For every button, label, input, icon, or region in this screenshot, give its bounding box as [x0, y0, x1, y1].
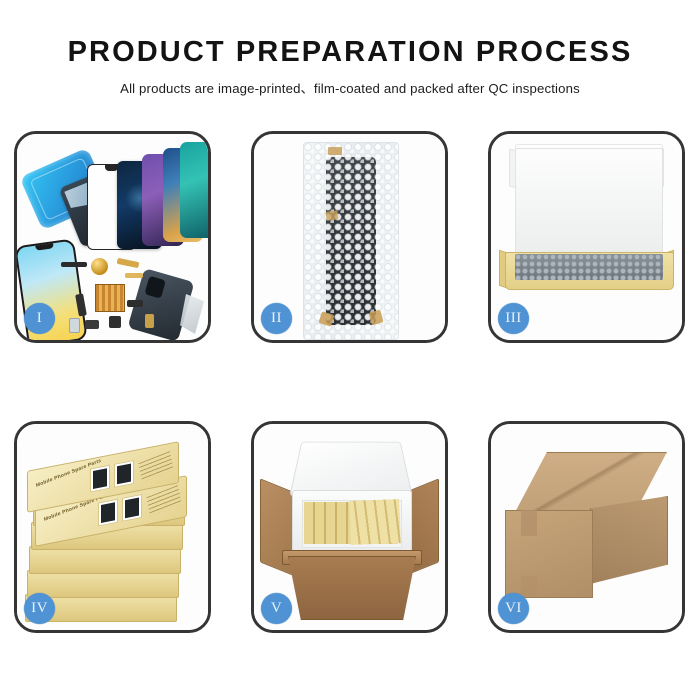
- tape-icon: [521, 510, 537, 536]
- box-window-icon: [98, 499, 118, 527]
- battery-icon: [69, 318, 80, 333]
- step-panel-sealed-carton: VI: [488, 421, 685, 633]
- step-badge: V: [261, 593, 292, 624]
- phone-teal-icon: [180, 142, 211, 238]
- carton-front-face: [505, 510, 593, 598]
- bubble-wrap-texture: [304, 143, 398, 339]
- header: PRODUCT PREPARATION PROCESS All products…: [0, 0, 700, 95]
- page-title: PRODUCT PREPARATION PROCESS: [0, 38, 700, 67]
- bubble-wrapped-item-icon: [515, 254, 663, 280]
- step-badge: I: [24, 303, 55, 334]
- carton-body: [288, 556, 416, 620]
- box-window-icon: [90, 465, 110, 493]
- step-panel-bubble-wrapped-screen: II: [251, 131, 448, 343]
- box-spec-lines: [138, 451, 173, 482]
- box-spec-lines: [146, 485, 181, 516]
- tape-icon: [328, 147, 342, 155]
- process-step-grid: I II: [14, 131, 686, 633]
- step-panel-foam-box-in-carton: V: [251, 421, 448, 633]
- flex-cable-icon: [61, 262, 87, 267]
- bubble-bag: [303, 142, 399, 340]
- box-window-icon: [122, 494, 142, 522]
- component-icon: [127, 300, 143, 307]
- kraft-box-layer: [27, 570, 179, 598]
- gold-coil-icon: [91, 258, 108, 275]
- box-lid: [515, 148, 663, 254]
- kraft-box-layer: [29, 546, 181, 574]
- flex-cable-icon: [117, 258, 140, 268]
- box-window-icon: [114, 460, 134, 488]
- foam-lid-icon: [289, 442, 413, 497]
- step-badge: VI: [498, 593, 529, 624]
- step-panel-open-mailer-box: III: [488, 131, 685, 343]
- component-icon: [145, 314, 154, 328]
- step-panel-stacked-kraft-boxes: Mobile Phone Spare Parts Mobile Phone Sp…: [14, 421, 211, 633]
- component-icon: [109, 316, 121, 328]
- tape-icon: [521, 576, 537, 596]
- kraft-boxes-inside: [349, 499, 401, 545]
- step-panel-parts-overview: I: [14, 131, 211, 343]
- step-badge: III: [498, 303, 529, 334]
- box-stack: Mobile Phone Spare Parts Mobile Phone Sp…: [23, 444, 203, 620]
- chip-grid-icon: [95, 284, 125, 312]
- carton-side-face: [590, 496, 668, 584]
- step-badge: IV: [24, 593, 55, 624]
- flex-cable-icon: [125, 273, 143, 278]
- component-icon: [85, 320, 99, 329]
- page-subtitle: All products are image-printed、film-coat…: [0, 82, 700, 95]
- tape-icon: [325, 210, 338, 221]
- step-badge: II: [261, 303, 292, 334]
- product-preparation-page: PRODUCT PREPARATION PROCESS All products…: [0, 0, 700, 700]
